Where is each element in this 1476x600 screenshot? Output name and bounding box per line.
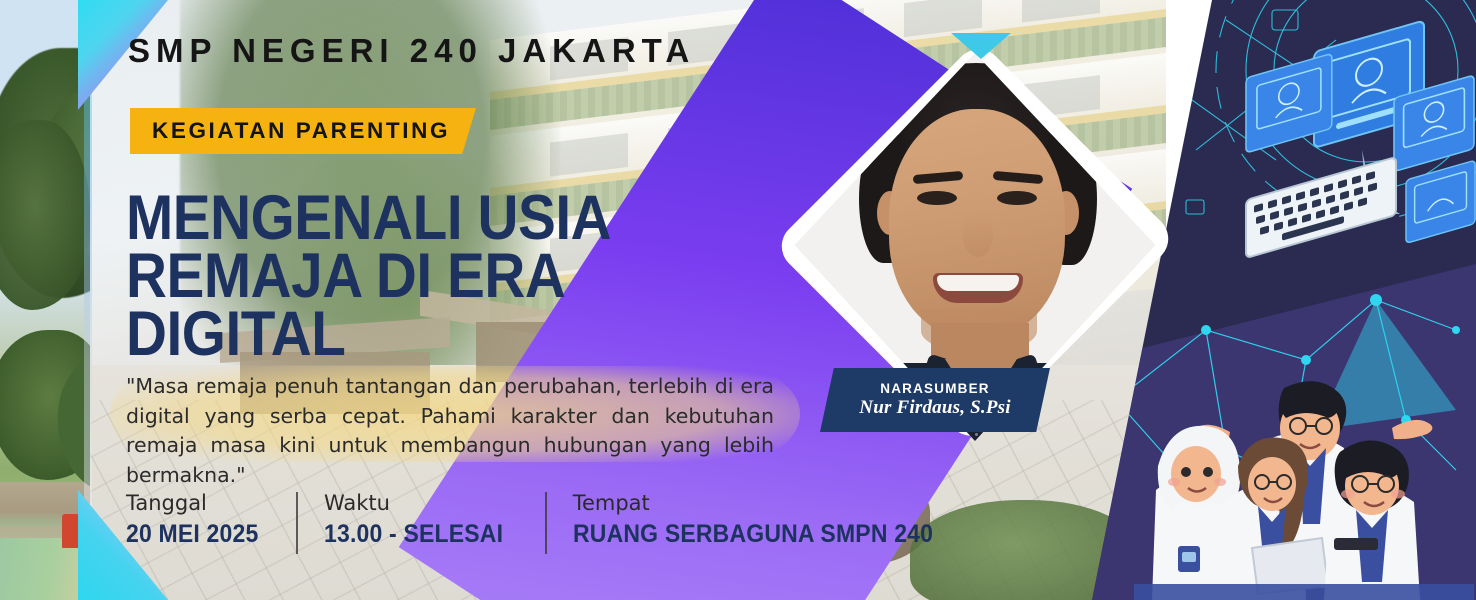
keyboard-icon [1246, 157, 1396, 258]
detail-divider [296, 492, 298, 554]
detail-item-time: Waktu 13.00 - SELESAI [324, 490, 519, 549]
detail-item-date: Tanggal 20 MEI 2025 [126, 490, 270, 549]
activity-tag-label: KEGIATAN PARENTING [152, 118, 450, 144]
detail-label: Tanggal [126, 490, 270, 516]
diamond-top-triangle-icon [951, 33, 1011, 59]
detail-value: 13.00 - SELESAI [324, 520, 503, 549]
event-banner: NARASUMBER Nur Firdaus, S.Psi SMP NEGERI… [0, 0, 1476, 600]
detail-label: Waktu [324, 490, 519, 516]
detail-divider [545, 492, 547, 554]
page-title: MENGENALI USIA REMAJA DI ERA DIGITAL [126, 190, 756, 364]
speaker-name: Nur Firdaus, S.Psi [859, 397, 1010, 419]
detail-value: 20 MEI 2025 [126, 520, 258, 549]
event-details: Tanggal 20 MEI 2025 Waktu 13.00 - SELESA… [126, 490, 964, 554]
school-name: SMP NEGERI 240 JAKARTA [128, 32, 695, 70]
detail-item-place: Tempat RUANG SERBAGUNA SMPN 240 [573, 490, 964, 549]
content-area: SMP NEGERI 240 JAKARTA KEGIATAN PARENTIN… [118, 0, 878, 600]
detail-value: RUANG SERBAGUNA SMPN 240 [573, 520, 933, 549]
detail-label: Tempat [573, 490, 964, 516]
speaker-role-label: NARASUMBER [880, 381, 990, 396]
students-illustration-icon [1134, 370, 1474, 600]
quote-text: "Masa remaja penuh tantangan dan perubah… [126, 372, 774, 491]
headline-line-2: REMAJA DI ERA DIGITAL [126, 248, 756, 364]
activity-tag-badge: KEGIATAN PARENTING [130, 108, 476, 154]
